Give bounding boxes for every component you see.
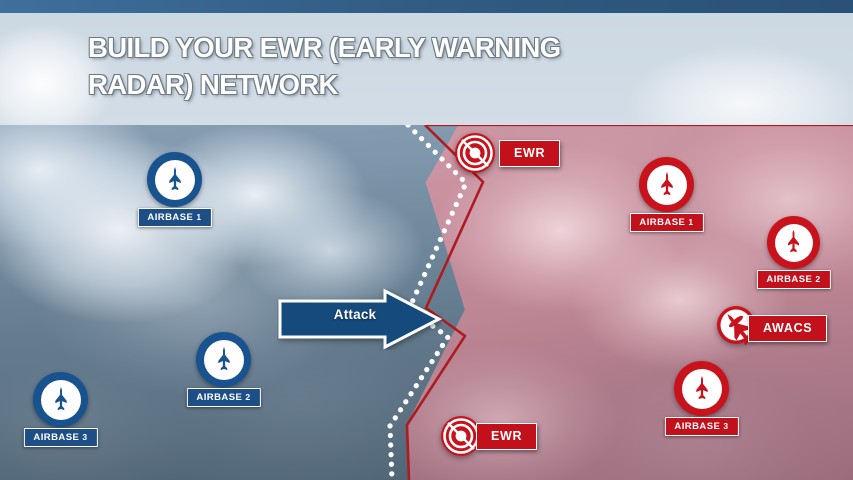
airbase-circle xyxy=(767,216,820,269)
airbase-label: AIRBASE 2 xyxy=(186,388,260,407)
airbase-label: AIRBASE 2 xyxy=(756,270,830,289)
awacs-badge[interactable]: AWACS xyxy=(748,315,827,342)
airbase-label: AIRBASE 3 xyxy=(664,417,738,436)
attack-arrow[interactable]: Attack xyxy=(277,288,442,350)
airbase-circle xyxy=(33,372,88,427)
airbase-inner-disc xyxy=(682,369,722,409)
airbase-circle xyxy=(147,152,202,207)
slide-canvas: Build Your EWR (Early Warning Radar) Net… xyxy=(0,0,853,480)
sky-strip xyxy=(0,0,853,13)
ewr-badge[interactable]: EWR xyxy=(499,140,560,167)
enemy-airbase-1-marker[interactable]: AIRBASE 1 xyxy=(639,157,694,212)
airbase-inner-disc xyxy=(775,224,813,262)
airbase-inner-disc xyxy=(647,165,687,205)
airbase-label: AIRBASE 1 xyxy=(629,213,703,232)
ewr-badge[interactable]: EWR xyxy=(476,423,537,450)
page-title: Build Your EWR (Early Warning Radar) Net… xyxy=(88,30,708,104)
airbase-circle xyxy=(639,157,694,212)
fighter-jet-icon xyxy=(780,229,807,256)
fighter-jet-icon xyxy=(47,386,75,414)
airbase-circle xyxy=(674,361,729,416)
fighter-jet-icon xyxy=(653,171,681,199)
arrow-right-icon xyxy=(277,288,442,350)
airbase-inner-disc xyxy=(41,380,81,420)
airbase-inner-disc xyxy=(155,160,195,200)
fighter-jet-icon xyxy=(210,346,238,374)
friendly-airbase-1-marker[interactable]: AIRBASE 1 xyxy=(147,152,202,207)
airbase-label: AIRBASE 1 xyxy=(137,208,211,227)
enemy-airbase-2-marker[interactable]: AIRBASE 2 xyxy=(767,216,820,269)
radar-icon xyxy=(454,132,496,174)
friendly-airbase-3-marker[interactable]: AIRBASE 3 xyxy=(33,372,88,427)
fighter-jet-icon xyxy=(161,166,189,194)
airbase-label: AIRBASE 3 xyxy=(23,428,97,447)
fighter-jet-icon xyxy=(688,375,716,403)
enemy-airbase-3-marker[interactable]: AIRBASE 3 xyxy=(674,361,729,416)
friendly-airbase-2-marker[interactable]: AIRBASE 2 xyxy=(196,332,251,387)
airbase-circle xyxy=(196,332,251,387)
airbase-inner-disc xyxy=(204,340,244,380)
